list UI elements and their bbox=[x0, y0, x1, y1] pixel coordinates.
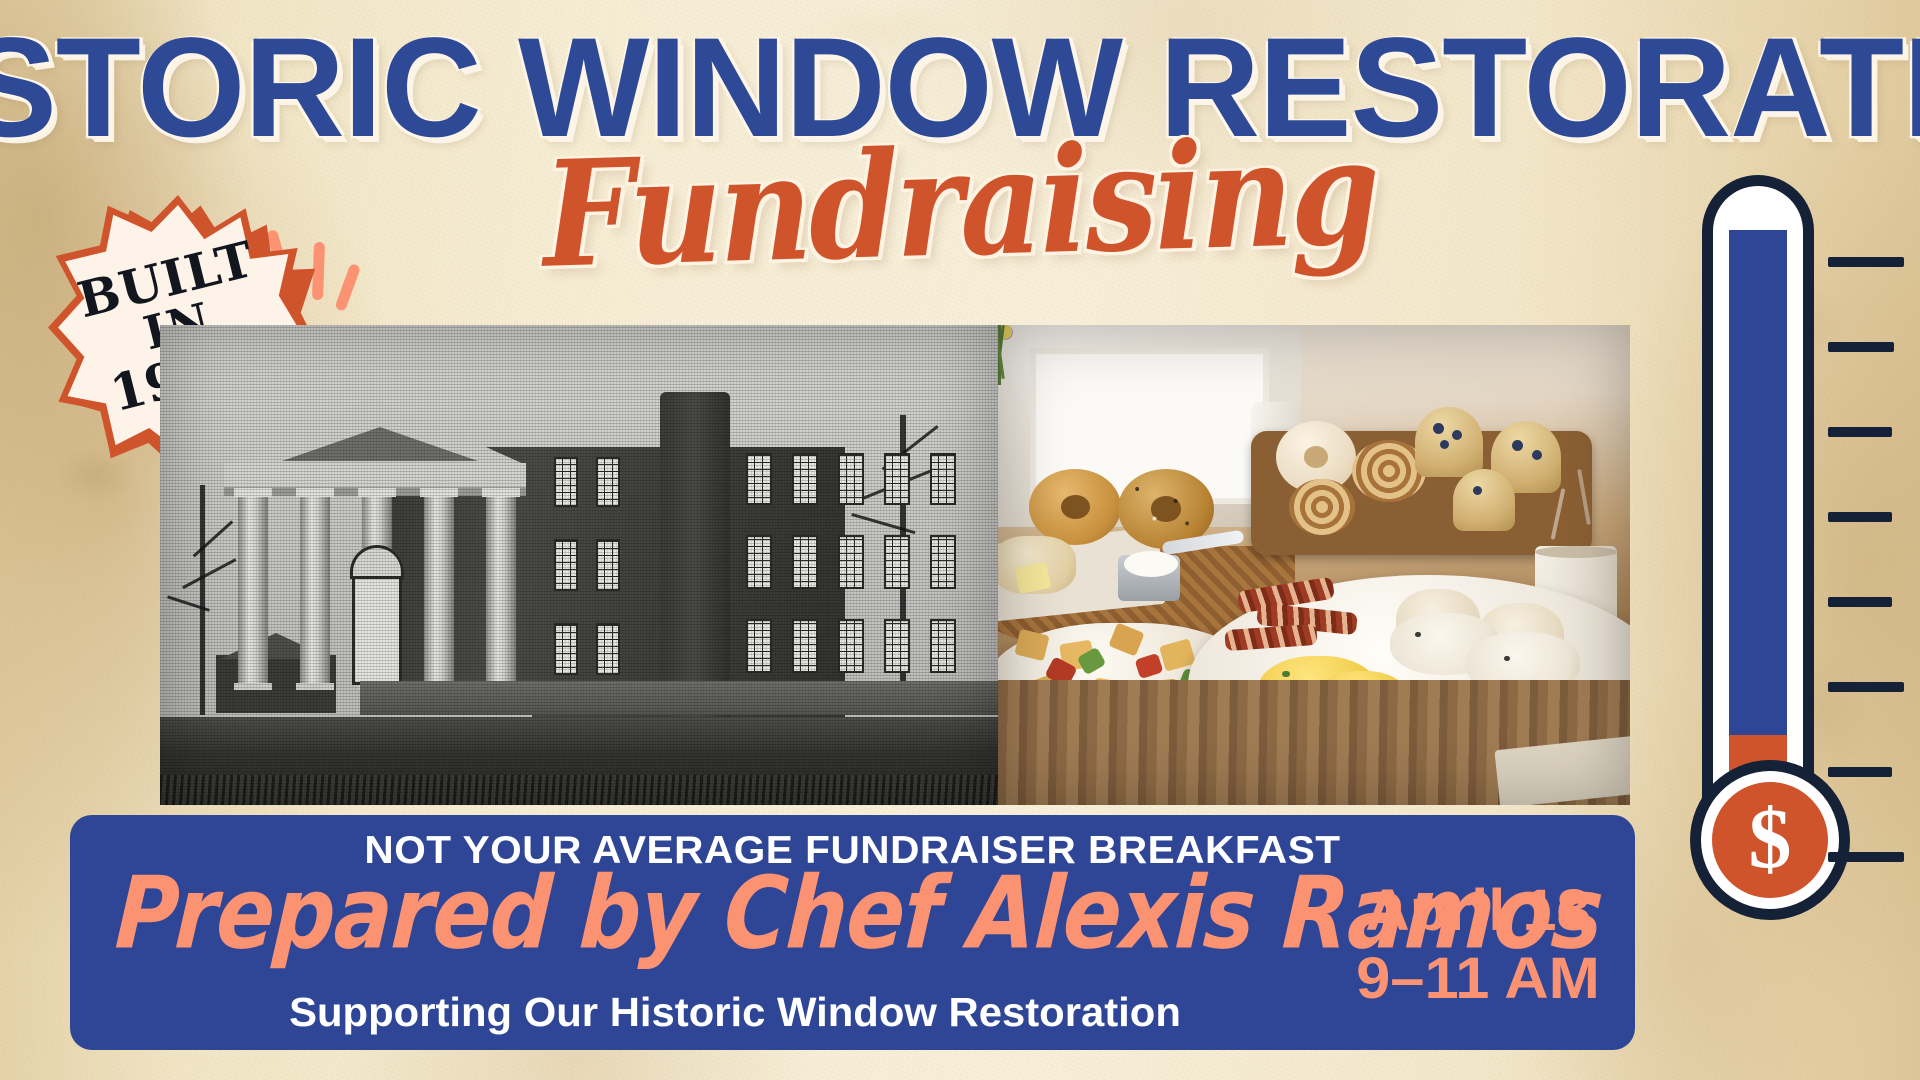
thermometer-tick-marks bbox=[1828, 257, 1908, 957]
fundraising-thermometer-icon: $ bbox=[1690, 175, 1850, 965]
food-photo-vignette bbox=[998, 325, 1630, 805]
historic-building-photo bbox=[160, 325, 998, 805]
photo-strip bbox=[160, 325, 1630, 805]
event-banner: NOT YOUR AVERAGE FUNDRAISER BREAKFAST Pr… bbox=[70, 815, 1635, 1050]
event-date-line: April 18 bbox=[1356, 877, 1600, 945]
thermometer-bulb: $ bbox=[1712, 782, 1828, 898]
breakfast-food-photo bbox=[998, 325, 1630, 805]
poster-canvas: HISTORIC WINDOW RESTORATION Fundraising … bbox=[0, 0, 1920, 1080]
dollar-sign-icon: $ bbox=[1749, 795, 1792, 881]
photo-vignette bbox=[160, 325, 998, 805]
banner-footer-text: Supporting Our Historic Window Restorati… bbox=[70, 989, 1413, 1036]
